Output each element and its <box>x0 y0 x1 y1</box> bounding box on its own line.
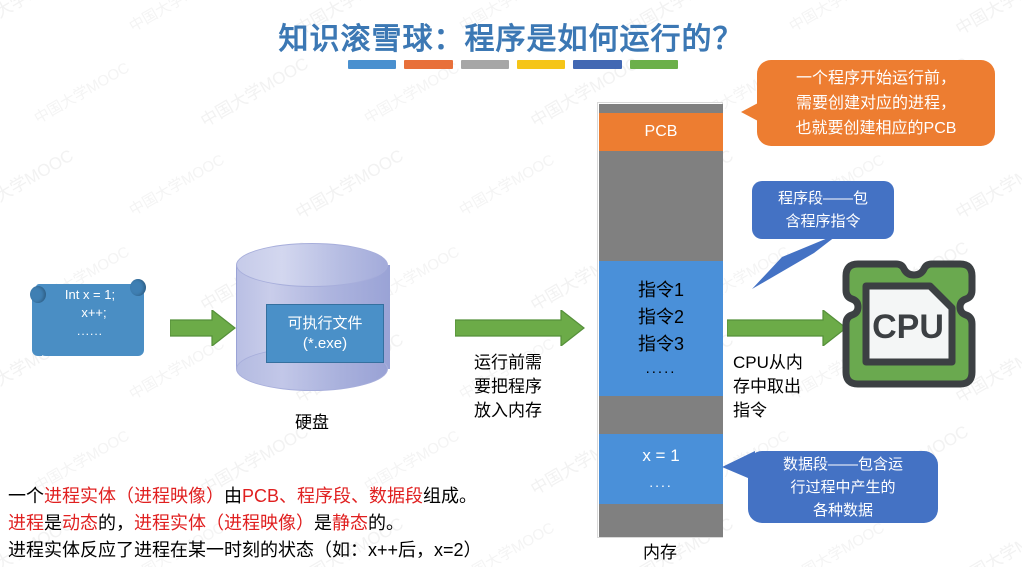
cpu-chip-icon: CPU <box>838 256 980 392</box>
cylinder-top <box>236 243 388 287</box>
summary-fragment: PCB、程序段、数据段 <box>242 486 423 506</box>
title-bar-2 <box>404 60 452 69</box>
callout-data-line-2: 行过程中产生的 <box>790 476 895 499</box>
title-accent-bars <box>348 60 678 69</box>
summary-line-1: 一个进程实体（进程映像）由PCB、程序段、数据段组成。 <box>8 483 482 510</box>
program-line-1: 指令1 <box>638 277 684 304</box>
memory-segment-gap-top <box>599 104 723 113</box>
pcb-label: PCB <box>645 123 678 141</box>
callout-pcb-line-3: 也就要创建相应的PCB <box>796 116 957 141</box>
arrow-scroll-to-disk <box>170 310 236 346</box>
cpu-label: CPU <box>872 308 944 346</box>
watermark: 中国大学MOOC <box>785 517 888 567</box>
callout-data-segment: 数据段——包含运行过程中产生的各种数据 <box>748 451 938 523</box>
data-line-1: x = 1 <box>642 443 679 469</box>
code-line-2: x++; <box>36 304 144 322</box>
watermark: 中国大学MOOC <box>290 142 407 224</box>
summary-fragment: 的。 <box>368 513 404 533</box>
data-line-2: .... <box>649 469 673 495</box>
callout-pcb: 一个程序开始运行前，需要创建对应的进程，也就要创建相应的PCB <box>757 60 995 146</box>
callout-pcb-line-2: 需要创建对应的进程， <box>796 91 956 116</box>
disk-caption: 硬盘 <box>236 408 388 433</box>
scroll-text: Int x = 1; x++; ...... <box>36 286 144 340</box>
exe-label-line-1: 可执行文件 <box>287 314 362 334</box>
summary-fragment: 动态 <box>62 513 98 533</box>
memory-segment-gap-1 <box>599 151 723 261</box>
callout-program-line-1: 程序段——包 <box>778 187 868 210</box>
watermark: 中国大学MOOC <box>125 149 228 221</box>
memory-caption: 内存 <box>598 538 722 563</box>
program-line-4: ..... <box>646 358 677 380</box>
caption-load-line-2: 要把程序 <box>462 375 554 399</box>
caption-fetch-line-2: 存中取出 <box>733 375 825 399</box>
slide-canvas: 中国大学MOOC中国大学MOOC中国大学MOOC中国大学MOOC中国大学MOOC… <box>0 0 1022 567</box>
code-line-3: ...... <box>36 322 144 340</box>
executable-file-box: 可执行文件 (*.exe) <box>266 304 384 363</box>
memory-segment-gap-2 <box>599 396 723 434</box>
summary-fragment: 进程实体（进程映像） <box>134 513 314 533</box>
hard-disk-cylinder: 可执行文件 (*.exe) <box>236 243 388 391</box>
code-scroll: Int x = 1; x++; ...... <box>26 278 149 362</box>
summary-fragment: 是 <box>314 513 332 533</box>
caption-fetch-instruction: CPU从内存中取出指令 <box>733 351 825 423</box>
caption-fetch-line-3: 指令 <box>733 399 825 423</box>
title-bar-6 <box>630 60 678 69</box>
watermark: 中国大学MOOC <box>195 50 312 132</box>
page-title: 知识滚雪球：程序是如何运行的？ <box>0 14 1022 58</box>
code-line-1: Int x = 1; <box>36 286 144 304</box>
caption-load-to-memory: 运行前需要把程序放入内存 <box>462 351 554 423</box>
callout-program-tail <box>752 233 842 295</box>
summary-fragment: 静态 <box>332 513 368 533</box>
callout-data-line-1: 数据段——包含运 <box>783 453 903 476</box>
callout-pcb-line-1: 一个程序开始运行前， <box>796 66 956 91</box>
title-bar-3 <box>461 60 509 69</box>
program-line-3: 指令3 <box>638 331 684 358</box>
summary-text: 一个进程实体（进程映像）由PCB、程序段、数据段组成。 进程是动态的，进程实体（… <box>8 483 482 564</box>
callout-data-line-3: 各种数据 <box>813 499 873 522</box>
title-bar-1 <box>348 60 396 69</box>
summary-fragment: 进程实体（进程映像） <box>44 486 224 506</box>
watermark: 中国大学MOOC <box>0 142 77 224</box>
watermark: 中国大学MOOC <box>30 57 133 129</box>
summary-fragment: 一个 <box>8 486 44 506</box>
callout-program-segment: 程序段——包含程序指令 <box>752 181 894 239</box>
arrow-disk-to-memory <box>455 310 585 346</box>
summary-fragment: 进程实体反应了进程在某一时刻的状态（如：x++后，x=2） <box>8 540 482 560</box>
summary-fragment: 进程 <box>8 513 44 533</box>
summary-line-2: 进程是动态的，进程实体（进程映像）是静态的。 <box>8 510 482 537</box>
summary-fragment: 的， <box>98 513 134 533</box>
summary-line-3: 进程实体反应了进程在某一时刻的状态（如：x++后，x=2） <box>8 537 482 564</box>
watermark: 中国大学MOOC <box>950 142 1022 224</box>
title-bar-5 <box>573 60 621 69</box>
memory-segment-program-segment: 指令1指令2指令3..... <box>599 261 723 396</box>
program-line-2: 指令2 <box>638 304 684 331</box>
callout-data-tail <box>722 451 756 489</box>
summary-fragment: 由 <box>224 486 242 506</box>
memory-segment-gap-bottom <box>599 504 723 537</box>
caption-load-line-3: 放入内存 <box>462 399 554 423</box>
callout-pcb-tail <box>741 103 758 121</box>
memory-segment-data-segment: x = 1.... <box>599 434 723 504</box>
summary-fragment: 组成。 <box>423 486 477 506</box>
caption-load-line-1: 运行前需 <box>462 351 554 375</box>
arrow-memory-to-cpu <box>727 310 847 346</box>
summary-fragment: 是 <box>44 513 62 533</box>
watermark: 中国大学MOOC <box>455 149 558 221</box>
exe-label-line-2: (*.exe) <box>303 334 347 354</box>
memory-column: PCB指令1指令2指令3.....x = 1.... <box>598 103 722 537</box>
watermark: 中国大学MOOC <box>950 510 1022 567</box>
caption-fetch-line-1: CPU从内 <box>733 351 825 375</box>
memory-segment-pcb: PCB <box>599 113 723 151</box>
title-bar-4 <box>517 60 565 69</box>
callout-program-line-2: 含程序指令 <box>785 210 860 233</box>
